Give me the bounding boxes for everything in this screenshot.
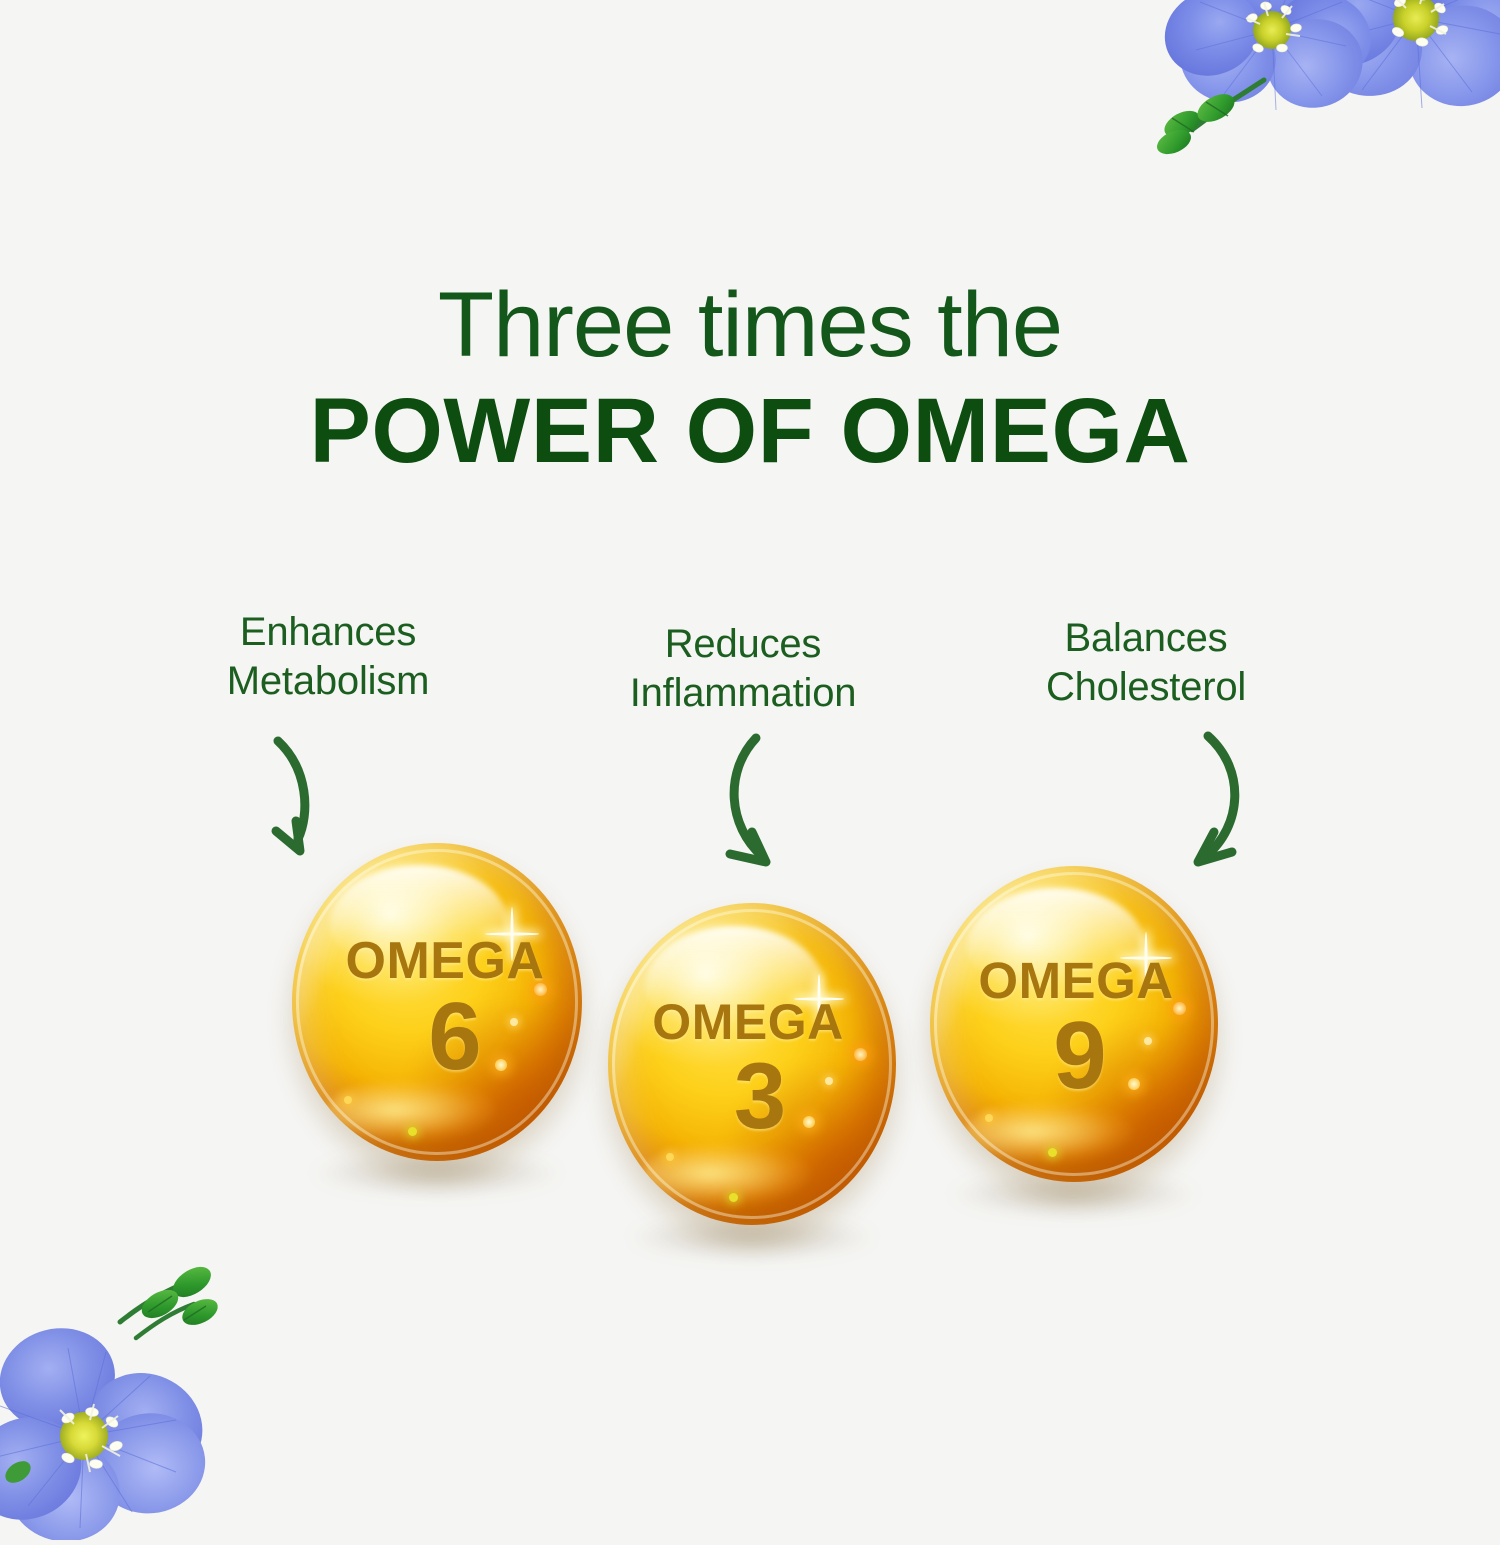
capsule-text: OMEGA 9 — [932, 868, 1220, 1184]
benefit-label-balances-cholesterol: Balances Cholesterol — [950, 614, 1342, 712]
benefit-label-enhances-metabolism: Enhances Metabolism — [128, 608, 528, 706]
capsule-word: OMEGA — [346, 931, 545, 991]
curved-arrow-down-left-icon — [1150, 728, 1280, 878]
capsule-number: 3 — [734, 1053, 786, 1139]
capsule-text: OMEGA 3 — [604, 905, 892, 1227]
page-title: Three times the POWER OF OMEGA — [0, 279, 1500, 477]
capsule-text: OMEGA 6 — [300, 847, 590, 1165]
flax-flower-top-right — [1130, 0, 1500, 216]
poster-canvas: Three times the POWER OF OMEGA Enhances … — [0, 0, 1500, 1500]
page-title-line-1: Three times the — [0, 279, 1500, 371]
omega-3-capsule: OMEGA 3 — [608, 903, 896, 1225]
omega-9-capsule: OMEGA 9 — [930, 866, 1218, 1182]
capsule-number: 9 — [1053, 1012, 1106, 1100]
benefit-label-reduces-inflammation: Reduces Inflammation — [528, 620, 958, 718]
curved-arrow-down-right-icon — [710, 730, 830, 880]
omega-6-capsule: OMEGA 6 — [292, 843, 582, 1161]
flax-flower-bottom-left — [0, 1240, 286, 1540]
page-title-line-2: POWER OF OMEGA — [0, 385, 1500, 477]
capsule-number: 6 — [428, 993, 481, 1081]
